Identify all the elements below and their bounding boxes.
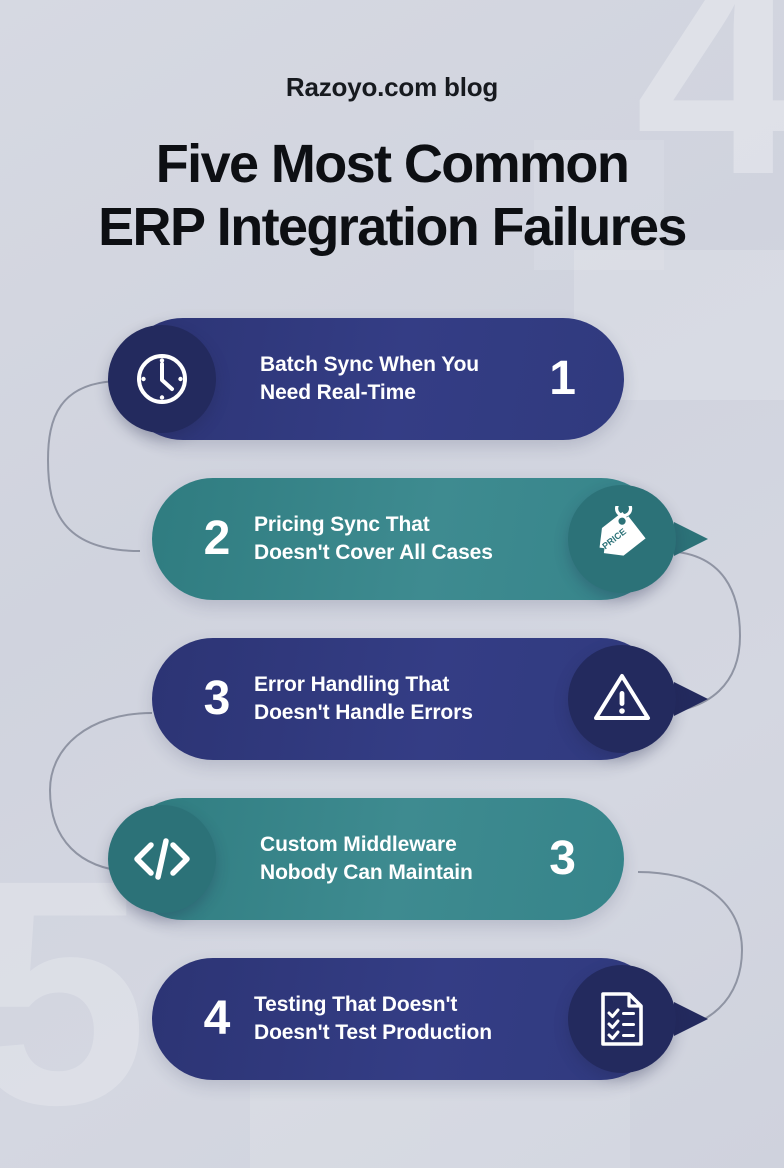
pill-tail [674,682,708,716]
pill-tail [674,522,708,556]
header: Razoyo.com blog Five Most Common ERP Int… [0,0,784,258]
list-item[interactable]: 4 Testing That Doesn't Doesn't Test Prod… [0,958,784,1118]
list-item[interactable]: Custom Middleware Nobody Can Maintain 3 [0,798,784,958]
failure-number-3: 3 [194,675,240,723]
failure-number-1: 1 [549,355,576,403]
clock-icon [108,325,216,433]
infographic-canvas: 4 5 Razoyo.com blog Five Most Common ERP… [0,0,784,1168]
brand-label: Razoyo.com blog [0,72,784,103]
price-tag-icon: PRICE [568,485,676,593]
failure-card-4[interactable]: Custom Middleware Nobody Can Maintain 3 [122,798,624,920]
failure-line-2: Doesn't Handle Errors [254,699,473,727]
failure-card-1[interactable]: Batch Sync When You Need Real-Time 1 [122,318,624,440]
failure-text-4: Custom Middleware Nobody Can Maintain [260,831,473,887]
failure-number-5: 4 [194,995,240,1043]
failure-text-3: Error Handling That Doesn't Handle Error… [254,671,473,727]
failure-line-2: Need Real-Time [260,379,479,407]
failure-card-3[interactable]: 3 Error Handling That Doesn't Handle Err… [152,638,662,760]
page-title: Five Most Common ERP Integration Failure… [0,133,784,258]
failure-line-1: Batch Sync When You [260,351,479,379]
title-line-1: Five Most Common [0,133,784,196]
list-item[interactable]: Batch Sync When You Need Real-Time 1 [0,318,784,478]
failure-line-1: Custom Middleware [260,831,473,859]
pill-tail [674,1002,708,1036]
failure-line-1: Error Handling That [254,671,473,699]
failure-card-5[interactable]: 4 Testing That Doesn't Doesn't Test Prod… [152,958,662,1080]
checklist-document-icon [568,965,676,1073]
failure-list: Batch Sync When You Need Real-Time 1 2 P… [0,318,784,1118]
failure-text-5: Testing That Doesn't Doesn't Test Produc… [254,991,492,1047]
failure-line-1: Pricing Sync That [254,511,493,539]
failure-line-2: Doesn't Cover All Cases [254,539,493,567]
warning-triangle-icon [568,645,676,753]
failure-line-1: Testing That Doesn't [254,991,492,1019]
failure-number-4: 3 [549,835,576,883]
failure-line-2: Nobody Can Maintain [260,859,473,887]
failure-line-2: Doesn't Test Production [254,1019,492,1047]
failure-number-2: 2 [194,515,240,563]
title-line-2: ERP Integration Failures [0,196,784,259]
list-item[interactable]: 3 Error Handling That Doesn't Handle Err… [0,638,784,798]
code-brackets-icon [108,805,216,913]
failure-text-1: Batch Sync When You Need Real-Time [260,351,479,407]
failure-card-2[interactable]: 2 Pricing Sync That Doesn't Cover All Ca… [152,478,662,600]
list-item[interactable]: 2 Pricing Sync That Doesn't Cover All Ca… [0,478,784,638]
failure-text-2: Pricing Sync That Doesn't Cover All Case… [254,511,493,567]
